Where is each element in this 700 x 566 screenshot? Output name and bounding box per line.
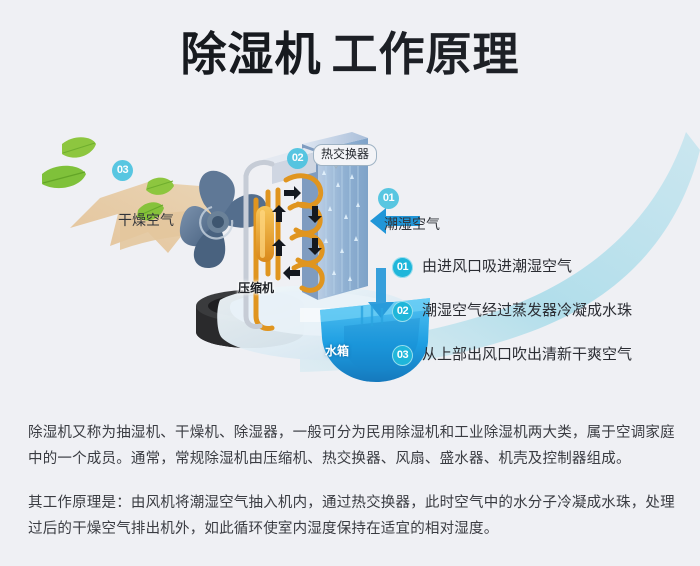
diagram-step-badge-02: 02 <box>287 148 308 169</box>
leaf-icon <box>42 166 86 188</box>
legend-item-01: 01 由进风口吸进潮湿空气 <box>392 248 692 286</box>
legend-text-03: 从上部出风口吹出清新干爽空气 <box>422 345 632 365</box>
description-paragraph-2: 其工作原理是：由风机将潮湿空气抽入机内，通过热交换器，此时空气中的水分子冷凝成水… <box>28 490 676 542</box>
description-block: 除湿机又称为抽湿机、干燥机、除湿器，一般可分为民用除湿机和工业除湿机两大类，属于… <box>28 420 676 542</box>
compressor-unit <box>256 206 274 262</box>
legend-item-03: 03 从上部出风口吹出清新干爽空气 <box>392 336 692 374</box>
page-header: 除湿机工作原理 <box>0 26 700 82</box>
page-title-part-1: 除湿机 <box>181 28 322 80</box>
heat-exchanger-callout: 热交换器 <box>313 144 377 166</box>
legend-text-01: 由进风口吸进潮湿空气 <box>422 257 572 277</box>
leaf-icon <box>62 137 96 157</box>
water-tank-label: 水箱 <box>325 342 349 359</box>
fan-illustration <box>180 171 266 268</box>
diagram-step-badge-01: 01 <box>378 188 399 209</box>
diagram-step-badge-03: 03 <box>112 160 133 181</box>
page-title: 除湿机工作原理 <box>181 26 520 82</box>
page-title-part-2: 工作原理 <box>332 28 520 80</box>
legend-badge-03: 03 <box>392 345 413 366</box>
dry-air-label: 干燥空气 <box>118 210 174 230</box>
compressor-label: 压缩机 <box>238 279 274 296</box>
steps-legend: 01 由进风口吸进潮湿空气 02 潮湿空气经过蒸发器冷凝成水珠 03 从上部出风… <box>392 248 692 380</box>
legend-badge-01: 01 <box>392 257 413 278</box>
legend-text-02: 潮湿空气经过蒸发器冷凝成水珠 <box>422 301 632 321</box>
humid-air-label: 潮湿空气 <box>384 214 440 234</box>
legend-item-02: 02 潮湿空气经过蒸发器冷凝成水珠 <box>392 292 692 330</box>
legend-badge-02: 02 <box>392 301 413 322</box>
description-paragraph-1: 除湿机又称为抽湿机、干燥机、除湿器，一般可分为民用除湿机和工业除湿机两大类，属于… <box>28 420 676 472</box>
